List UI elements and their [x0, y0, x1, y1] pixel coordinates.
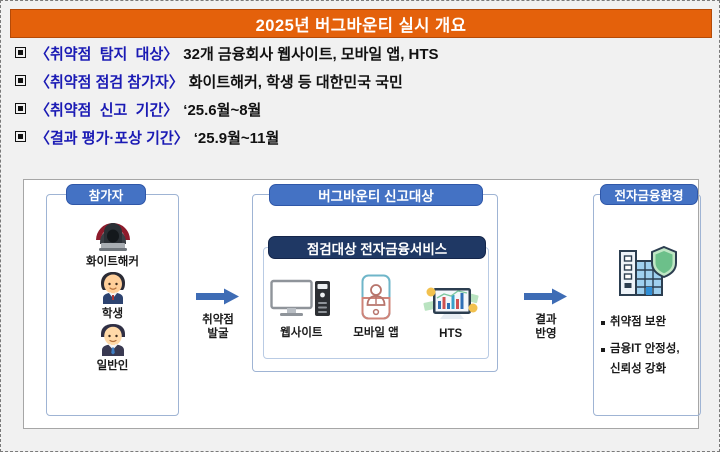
- person-label: 학생: [102, 305, 123, 321]
- list-item: 화이트해커: [47, 218, 178, 269]
- outcome-header: 전자금융환경: [600, 184, 698, 205]
- person-label: 일반인: [97, 357, 129, 373]
- service-label: 모바일 앱: [353, 324, 399, 340]
- flow-arrow-label-line2: 반영: [535, 328, 556, 340]
- square-bullet-icon: [601, 321, 605, 325]
- process-diagram: 참가자 화이트해커: [23, 179, 699, 429]
- flow-arrow-label: 결과 반영: [510, 313, 582, 342]
- flow-arrow-label-line1: 취약점: [202, 314, 234, 326]
- flow-arrow-discovery: 취약점 발굴: [182, 288, 254, 342]
- person-label: 화이트해커: [86, 253, 139, 269]
- page-title-bar: 2025년 버그바운티 실시 개요: [10, 9, 712, 38]
- participants-header: 참가자: [66, 184, 146, 205]
- service-label: 웹사이트: [280, 324, 322, 340]
- list-item: 〈취약점 점검 참가자〉 화이트해커, 학생 등 대한민국 국민: [15, 71, 715, 99]
- bullet-value: 화이트해커, 학생 등 대한민국 국민: [189, 71, 403, 92]
- service-label: HTS: [439, 328, 462, 340]
- outcome-item-label: 취약점 보완: [610, 315, 666, 331]
- list-item: 〈취약점 탐지 대상〉 32개 금융회사 웹사이트, 모바일 앱, HTS: [15, 43, 715, 71]
- flow-arrow-label: 취약점 발굴: [182, 313, 254, 342]
- square-bullet-icon: [601, 348, 605, 352]
- bank-shield-icon: [616, 243, 678, 299]
- list-item: 모바일 앱: [339, 274, 414, 340]
- bullet-label: 〈취약점 점검 참가자〉: [35, 71, 184, 92]
- list-item: 〈결과 평가·포상 기간〉 ‘25.9월~11월: [15, 127, 715, 155]
- arrow-right-icon: [196, 288, 240, 305]
- list-item: 학생: [47, 270, 178, 321]
- outcome-panel: 전자금융환경: [593, 194, 701, 416]
- list-item: 취약점 보완: [601, 315, 702, 331]
- list-item: 웹사이트: [264, 278, 339, 340]
- flow-arrow-result: 결과 반영: [510, 288, 582, 342]
- summary-bullet-list: 〈취약점 탐지 대상〉 32개 금융회사 웹사이트, 모바일 앱, HTS 〈취…: [15, 43, 715, 155]
- scope-header: 버그바운티 신고대상: [269, 184, 483, 206]
- outcome-icon-wrap: [594, 243, 700, 299]
- bullet-value: ‘25.6월~8월: [183, 99, 261, 120]
- services-box: 점검대상 전자금융서비스: [263, 247, 489, 359]
- infographic-page: 2025년 버그바운티 실시 개요 〈취약점 탐지 대상〉 32개 금융회사 웹…: [0, 0, 720, 452]
- flow-arrow-label-line2: 발굴: [207, 328, 228, 340]
- civilian-icon: [95, 322, 131, 356]
- list-item: 〈취약점 신고 기간〉 ‘25.6월~8월: [15, 99, 715, 127]
- hacker-icon: [92, 218, 134, 252]
- bullet-value: ‘25.9월~11월: [194, 127, 280, 148]
- arrow-right-icon: [524, 288, 568, 305]
- student-icon: [95, 270, 131, 304]
- outcome-list: 취약점 보완 금융IT 안정성, 신뢰성 강화: [601, 315, 702, 376]
- bullet-label: 〈결과 평가·포상 기간〉: [35, 127, 189, 148]
- square-bullet-icon: [15, 75, 26, 86]
- participants-panel: 참가자 화이트해커: [46, 194, 179, 416]
- trading-chart-icon: [422, 280, 480, 324]
- list-item: 금융IT 안정성,: [601, 342, 702, 358]
- outcome-item-label-continued: 신뢰성 강화: [601, 360, 702, 376]
- bullet-value: 32개 금융회사 웹사이트, 모바일 앱, HTS: [183, 43, 438, 64]
- bullet-label: 〈취약점 탐지 대상〉: [35, 43, 178, 64]
- scope-panel: 버그바운티 신고대상 점검대상 전자금융서비스: [252, 194, 498, 372]
- services-header: 점검대상 전자금융서비스: [268, 236, 486, 259]
- bullet-label: 〈취약점 신고 기간〉: [35, 99, 178, 120]
- outcome-item-label: 금융IT 안정성,: [610, 342, 680, 358]
- square-bullet-icon: [15, 103, 26, 114]
- desktop-computer-icon: [270, 278, 332, 320]
- participants-list: 화이트해커 학생: [47, 217, 178, 373]
- square-bullet-icon: [15, 131, 26, 142]
- list-item: HTS: [413, 280, 488, 340]
- mobile-phone-icon: [361, 274, 391, 320]
- square-bullet-icon: [15, 47, 26, 58]
- list-item: 일반인: [47, 322, 178, 373]
- services-list: 웹사이트 모바일 앱: [264, 274, 488, 340]
- page-title: 2025년 버그바운티 실시 개요: [256, 12, 467, 36]
- flow-arrow-label-line1: 결과: [535, 314, 556, 326]
